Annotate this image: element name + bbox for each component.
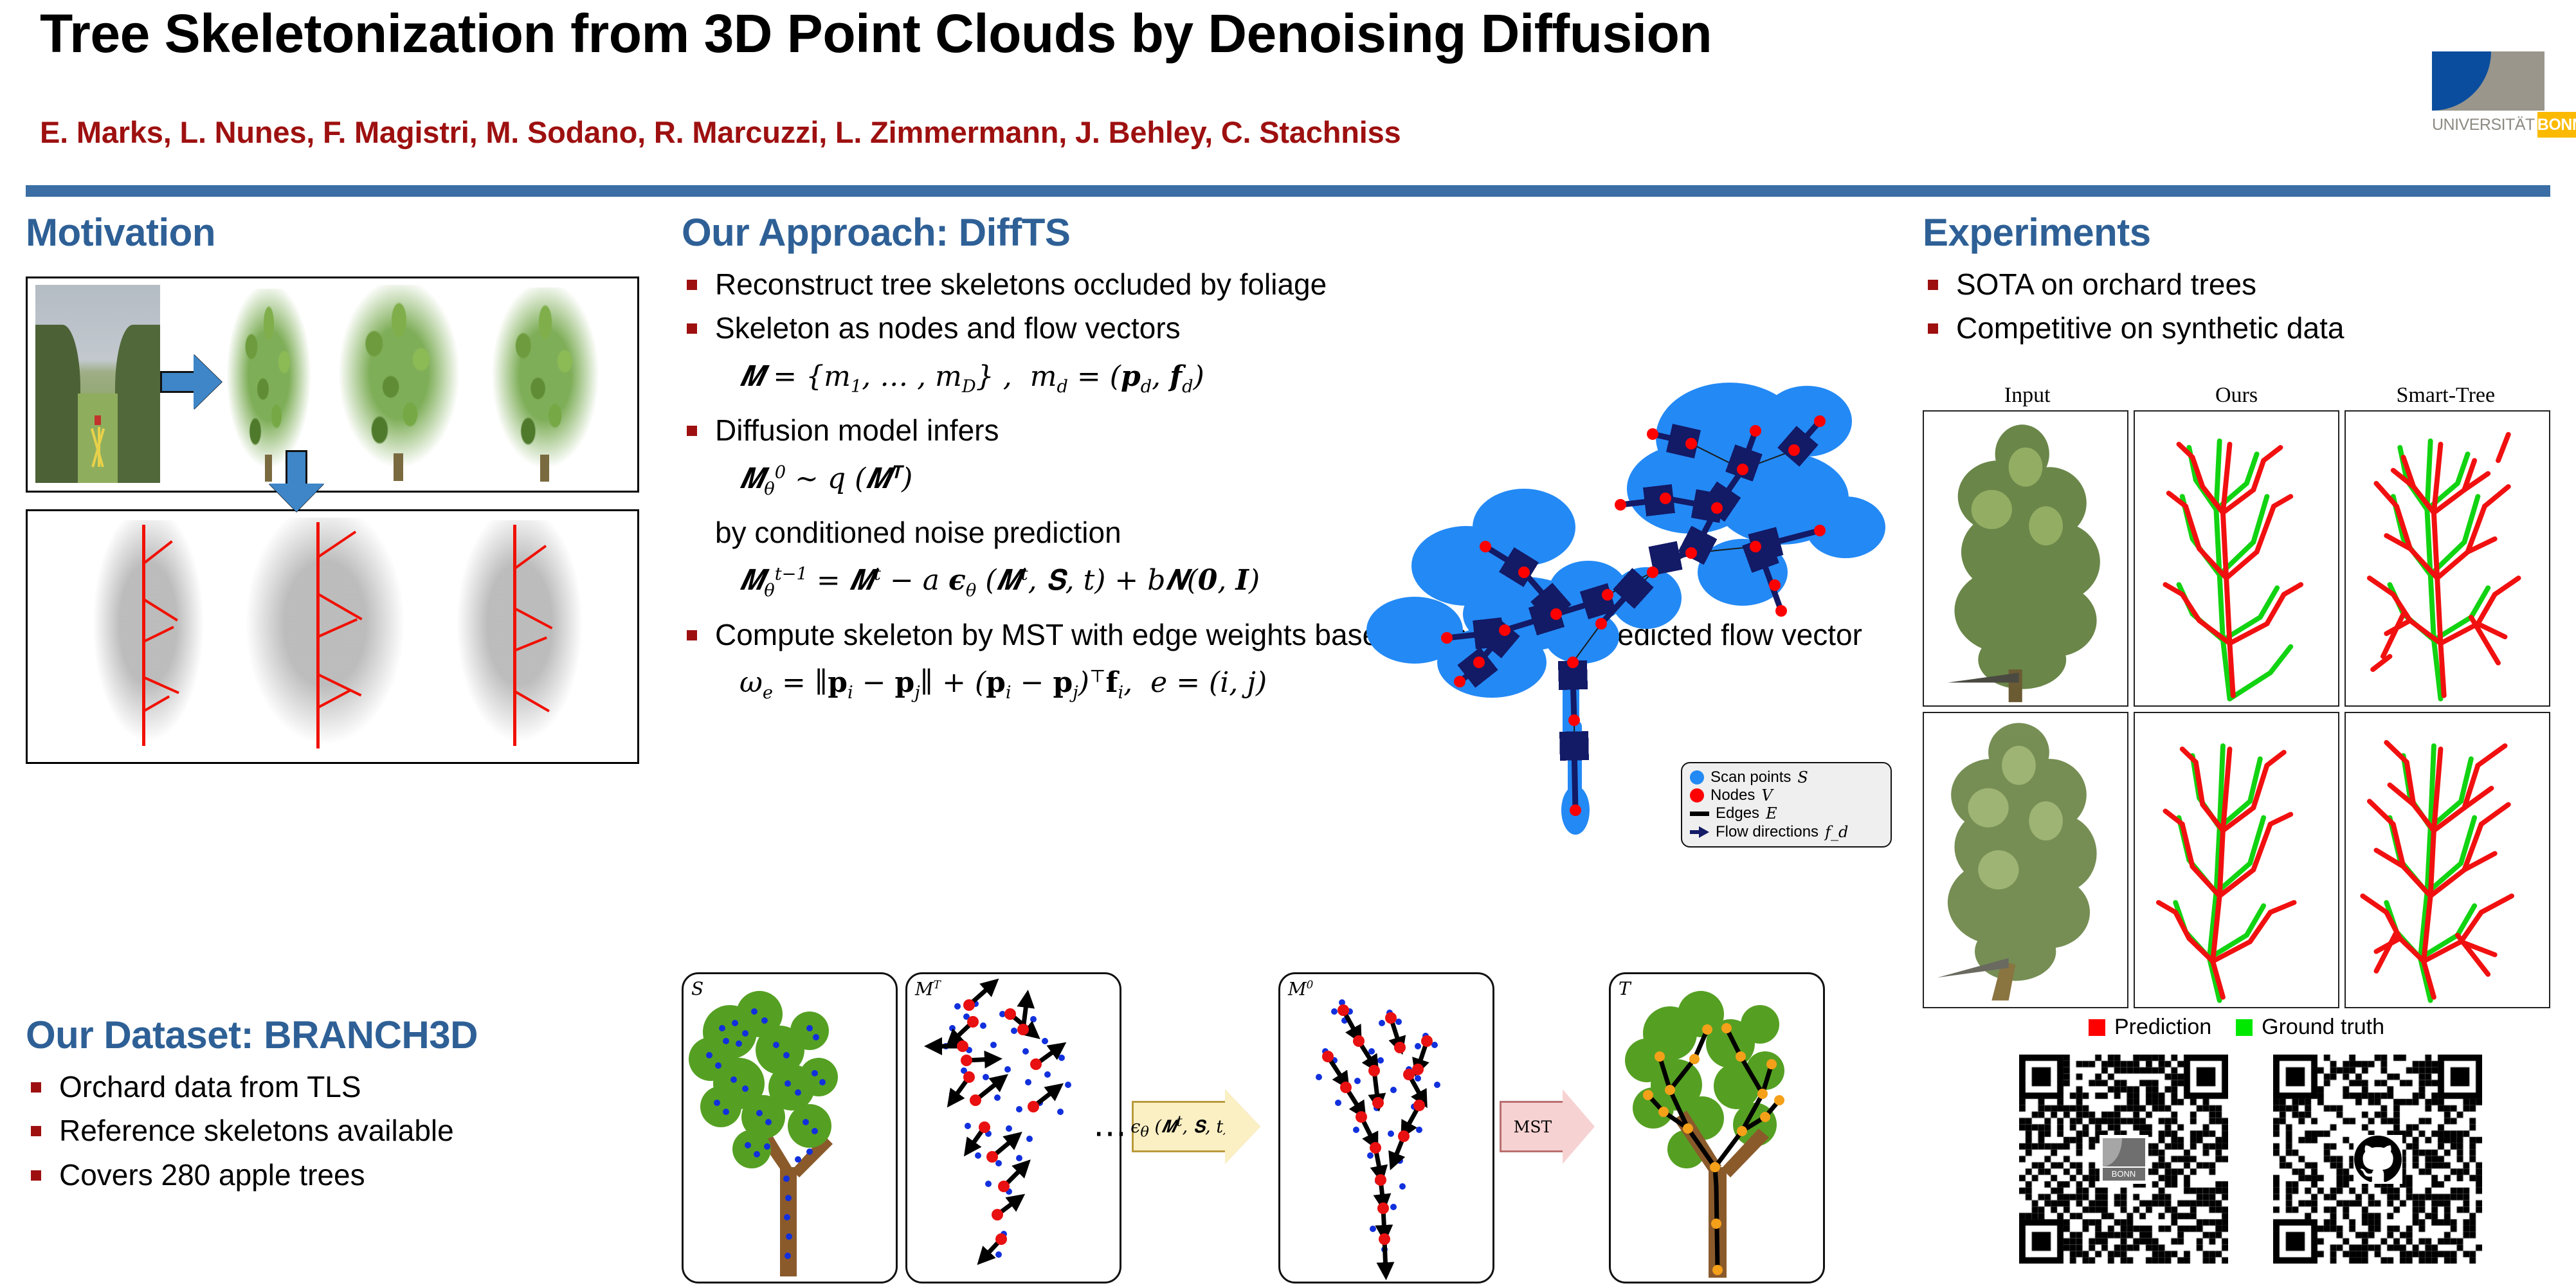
experiments-column: Experiments SOTA on orchard trees Compet… xyxy=(1923,212,2550,355)
exp-cell-input-row1 xyxy=(1923,410,2128,707)
legend-symbol-edges: E xyxy=(1766,804,1777,822)
foliage-cloud-3 xyxy=(484,287,606,482)
denoise-arrow: ․․․ ϵθ (𝑴t, 𝐒, t) xyxy=(1132,1089,1260,1164)
experiments-column-headers: Input Ours Smart-Tree xyxy=(1923,383,2550,408)
pointcloud-legend: Scan points S Nodes V Edges E Flow direc… xyxy=(1681,762,1892,848)
denoise-arrow-label: ϵθ (𝑴t, 𝐒, t) xyxy=(1130,1113,1229,1140)
experiments-heading: Experiments xyxy=(1923,212,2550,253)
legend-row-edges: Edges E xyxy=(1690,804,1883,822)
ground-truth-color-swatch xyxy=(2236,1019,2253,1036)
exp-cell-input-row2 xyxy=(1923,712,2128,1008)
dataset-heading: Our Dataset: BRANCH3D xyxy=(26,1015,669,1055)
page-title: Tree Skeletonization from 3D Point Cloud… xyxy=(40,5,2008,62)
experiments-bullet-list: SOTA on orchard trees Competitive on syn… xyxy=(1923,267,2550,346)
scan-points-dot-icon xyxy=(1690,770,1704,785)
legend-label-edges: Edges xyxy=(1716,804,1759,822)
pipeline-label-denoised: M0 xyxy=(1288,978,1313,999)
experiments-image-grid xyxy=(1923,410,2550,1008)
approach-bullet-list: Reconstruct tree skeletons occluded by f… xyxy=(682,267,1891,346)
pipeline-panel-tree: T xyxy=(1609,972,1825,1283)
legend-label-nodes: Nodes xyxy=(1710,786,1755,804)
list-item: Reference skeletons available xyxy=(26,1113,669,1148)
paper-qr-code[interactable]: BONN xyxy=(2019,1055,2228,1264)
skeleton-cloud-3 xyxy=(452,520,587,750)
laser-scanner-tripod xyxy=(90,415,105,467)
dataset-section: Our Dataset: BRANCH3D Orchard data from … xyxy=(26,1015,669,1201)
legend-row-scan-points: Scan points S xyxy=(1690,768,1883,786)
list-item: Reconstruct tree skeletons occluded by f… xyxy=(682,267,1891,302)
exp-cell-ours-row2 xyxy=(2134,712,2339,1008)
motivation-skeleton-panel xyxy=(26,509,639,764)
pipeline-panel-denoised: M0 xyxy=(1278,972,1494,1283)
legend-label-ground-truth: Ground truth xyxy=(2262,1015,2384,1040)
legend-symbol-flow: f_d xyxy=(1825,823,1848,841)
skeleton-cloud-2 xyxy=(240,518,410,753)
exp-cell-ours-row1 xyxy=(2134,410,2339,707)
university-bonn-logo: UNIVERSITÄT BONN xyxy=(2432,51,2544,138)
pipeline-label-scan: S xyxy=(691,978,703,999)
author-list: E. Marks, L. Nunes, F. Magistri, M. Soda… xyxy=(40,114,2008,150)
hedge-left xyxy=(35,325,80,483)
motivation-input-panel xyxy=(26,277,639,493)
list-item: SOTA on orchard trees xyxy=(1923,267,2550,302)
poster-root: Tree Skeletonization from 3D Point Cloud… xyxy=(0,0,2576,1288)
logo-wordmark: UNIVERSITÄT BONN xyxy=(2432,112,2544,138)
legend-label-flow: Flow directions xyxy=(1716,823,1819,841)
pipeline-label-tree: T xyxy=(1619,978,1631,999)
legend-row-nodes: Nodes V xyxy=(1690,786,1883,804)
list-item: Competitive on synthetic data xyxy=(1923,311,2550,345)
list-item: Skeleton as nodes and flow vectors xyxy=(682,311,1891,345)
exp-cell-smarttree-row2 xyxy=(2345,712,2550,1008)
orchard-photo xyxy=(35,285,160,483)
skeleton-cloud-1 xyxy=(89,520,208,750)
mst-arrow: MST xyxy=(1500,1089,1596,1164)
column-header-smarttree: Smart-Tree xyxy=(2341,383,2550,408)
hedge-right xyxy=(115,325,160,483)
header-divider xyxy=(26,185,2550,197)
approach-heading: Our Approach: DiffTS xyxy=(682,212,1891,253)
pipeline-panel-scan: S xyxy=(682,972,898,1283)
pipeline-panel-noisy: MT xyxy=(905,972,1121,1283)
pointcloud-figure: Scan points S Nodes V Edges E Flow direc… xyxy=(1331,360,1891,849)
logo-university-text: UNIVERSITÄT xyxy=(2432,112,2537,138)
code-qr-code[interactable] xyxy=(2273,1055,2482,1264)
exp-cell-smarttree-row1 xyxy=(2345,410,2550,707)
foliage-cloud-2 xyxy=(330,285,468,481)
list-item: Orchard data from TLS xyxy=(26,1069,669,1104)
prediction-color-swatch xyxy=(2089,1019,2105,1036)
qr-center-logo-bonn: BONN xyxy=(2100,1135,2148,1184)
column-header-input: Input xyxy=(1923,383,2132,408)
github-octocat-icon xyxy=(2354,1136,2402,1183)
dataset-bullet-list: Orchard data from TLS Reference skeleton… xyxy=(26,1069,669,1192)
edges-line-icon xyxy=(1690,812,1709,816)
column-header-ours: Ours xyxy=(2132,383,2341,408)
qr-center-logo-github xyxy=(2354,1135,2402,1184)
motivation-column: Motivation xyxy=(26,212,669,267)
arrow-down-icon xyxy=(269,450,324,512)
legend-label-scan-points: Scan points xyxy=(1710,768,1791,786)
logo-mark xyxy=(2432,51,2544,111)
list-item: Covers 280 apple trees xyxy=(26,1157,669,1192)
experiments-legend: Prediction Ground truth xyxy=(1923,1015,2550,1040)
arrow-right-icon xyxy=(160,354,222,410)
qr-code-area: BONN xyxy=(2019,1055,2482,1286)
legend-item-ground-truth: Ground truth xyxy=(2236,1015,2384,1040)
legend-symbol-scan-points: S xyxy=(1797,768,1808,786)
mst-arrow-label: MST xyxy=(1514,1118,1552,1136)
logo-bonn-text: BONN xyxy=(2537,112,2576,138)
qr-bonn-label: BONN xyxy=(2103,1168,2145,1181)
legend-row-flow: Flow directions f_d xyxy=(1690,823,1883,841)
pipeline-label-noisy: MT xyxy=(915,978,941,999)
legend-label-prediction: Prediction xyxy=(2114,1015,2211,1040)
nodes-dot-icon xyxy=(1690,788,1704,803)
motivation-heading: Motivation xyxy=(26,212,669,253)
legend-symbol-nodes: V xyxy=(1761,786,1772,804)
pipeline-diagram: S xyxy=(682,972,1891,1280)
legend-item-prediction: Prediction xyxy=(2089,1015,2211,1040)
